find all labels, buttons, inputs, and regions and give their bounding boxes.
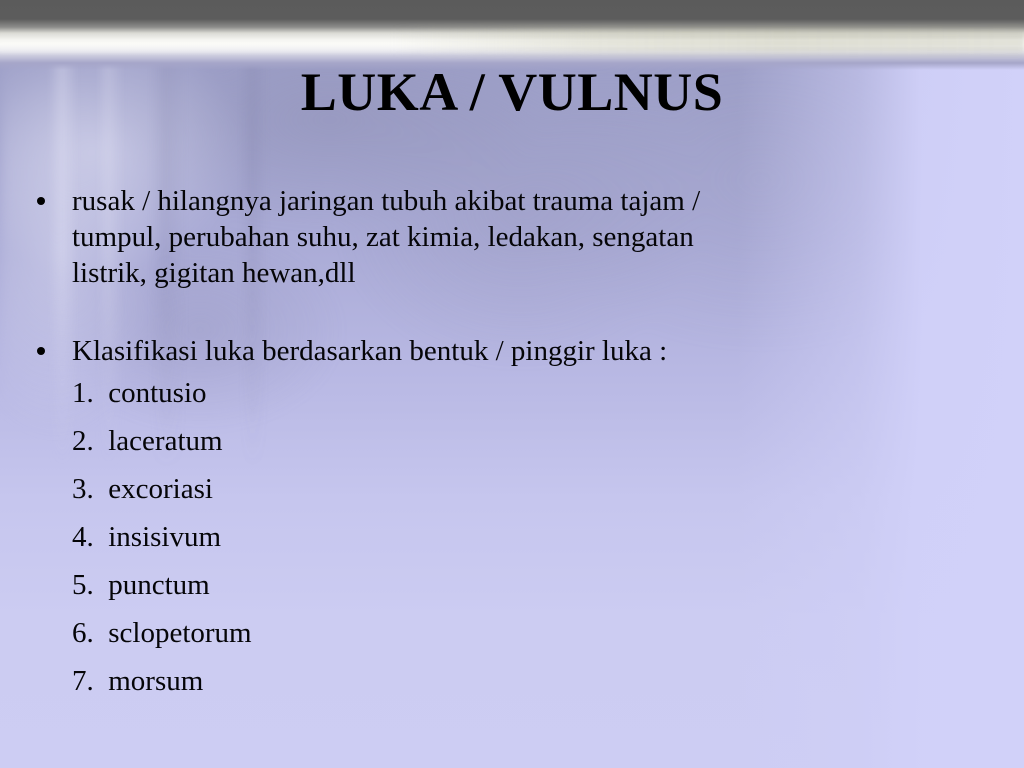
bullet-line: rusak / hilangnya jaringan tubuh akibat … <box>72 183 929 219</box>
list-item-label: laceratum <box>108 425 222 457</box>
slide-content: LUKA / VULNUS rusak / hilangnya jaringan… <box>0 0 1024 768</box>
bullet-dot-icon <box>37 347 45 355</box>
list-item-number: 7. <box>72 665 101 697</box>
list-item-number: 1. <box>72 377 101 409</box>
slide-title: LUKA / VULNUS <box>0 63 1024 121</box>
list-item-number: 5. <box>72 569 101 601</box>
list-item: 7. morsum <box>0 657 1024 705</box>
bullet-line: Klasifikasi luka berdasarkan bentuk / pi… <box>72 333 929 369</box>
list-item: 5. punctum <box>0 561 1024 609</box>
slide-body: rusak / hilangnya jaringan tubuh akibat … <box>0 183 1024 705</box>
list-item-number: 6. <box>72 617 101 649</box>
list-item-label: contusio <box>108 377 206 409</box>
list-item-label: sclopetorum <box>108 617 251 649</box>
list-item-label: insisivum <box>108 521 221 553</box>
bullet-item: Klasifikasi luka berdasarkan bentuk / pi… <box>0 333 1024 369</box>
list-item: 4. insisivum <box>0 513 1024 561</box>
list-item: 6. sclopetorum <box>0 609 1024 657</box>
list-item-label: morsum <box>108 665 203 697</box>
list-item: 3. excoriasi <box>0 465 1024 513</box>
list-item-label: excoriasi <box>108 473 213 505</box>
classification-list: 1. contusio 2. laceratum 3. excoriasi 4.… <box>0 369 1024 705</box>
list-item-number: 2. <box>72 425 101 457</box>
paragraph-spacer <box>0 291 1024 333</box>
bullet-line: listrik, gigitan hewan,dll <box>72 255 929 291</box>
bullet-dot-icon <box>37 197 45 205</box>
list-item: 1. contusio <box>0 369 1024 417</box>
presentation-slide: LUKA / VULNUS rusak / hilangnya jaringan… <box>0 0 1024 768</box>
bullet-item: rusak / hilangnya jaringan tubuh akibat … <box>0 183 1024 291</box>
list-item-number: 3. <box>72 473 101 505</box>
bullet-item-text: rusak / hilangnya jaringan tubuh akibat … <box>72 183 929 291</box>
bullet-item-text: Klasifikasi luka berdasarkan bentuk / pi… <box>72 333 929 369</box>
list-item-label: punctum <box>108 569 210 601</box>
list-item: 2. laceratum <box>0 417 1024 465</box>
bullet-line: tumpul, perubahan suhu, zat kimia, ledak… <box>72 219 929 255</box>
list-item-number: 4. <box>72 521 101 553</box>
